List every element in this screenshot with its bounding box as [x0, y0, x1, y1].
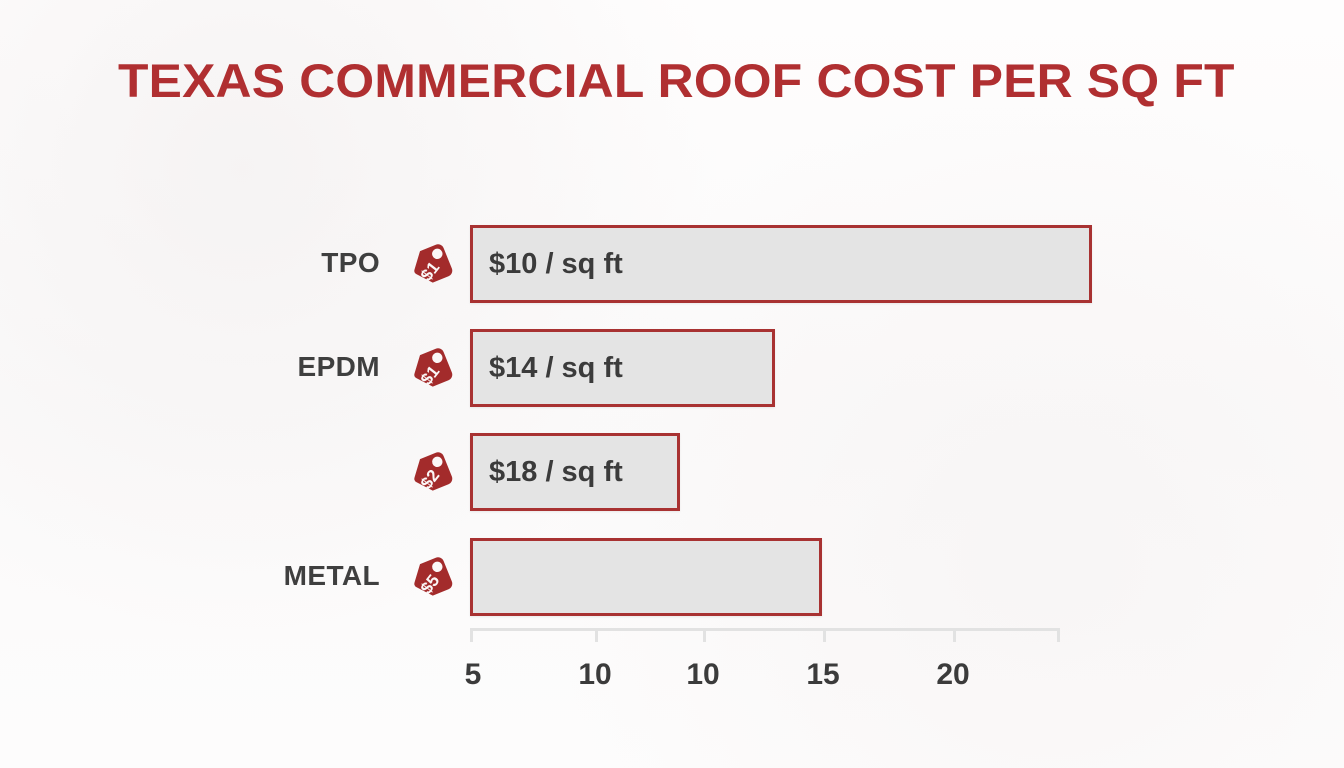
- bar: $14 / sq ft: [470, 329, 775, 407]
- x-axis-tick: [953, 628, 956, 642]
- x-axis-tick-label: 10: [555, 655, 635, 695]
- category-label: METAL: [120, 536, 380, 616]
- infographic-root: TEXAS COMMERCIAL ROOF COST PER SQ FT TPO…: [0, 0, 1344, 768]
- bar-row: $2 $18 / sq ft: [0, 431, 1344, 511]
- x-axis-tick: [703, 628, 706, 642]
- bar: $18 / sq ft: [470, 433, 680, 511]
- bar-row: TPO $1 $10 / sq ft: [0, 223, 1344, 303]
- x-axis-line: [470, 628, 1060, 631]
- price-tag-icon: $5: [404, 550, 464, 610]
- x-axis-tick: [1057, 628, 1060, 642]
- x-axis: [470, 628, 1060, 642]
- price-tag-icon: $1: [404, 237, 464, 297]
- bar-row: METAL $5: [0, 536, 1344, 616]
- price-tag-icon: $1: [404, 341, 464, 401]
- x-axis-tick: [823, 628, 826, 642]
- category-label: TPO: [120, 223, 380, 303]
- bar: [470, 538, 822, 616]
- x-axis-tick-label: 10: [663, 655, 743, 695]
- x-axis-tick-label: 20: [913, 655, 993, 695]
- x-axis-tick-label: 15: [783, 655, 863, 695]
- chart-plot-area: TPO $1 $10 / sq ft EPDM: [0, 0, 1344, 768]
- x-axis-tick-label: 5: [433, 655, 513, 695]
- category-label: EPDM: [120, 327, 380, 407]
- x-axis-tick: [470, 628, 473, 642]
- bar: $10 / sq ft: [470, 225, 1092, 303]
- bar-row: EPDM $1 $14 / sq ft: [0, 327, 1344, 407]
- bar-value-label: $14 / sq ft: [489, 332, 623, 404]
- bar-value-label: $10 / sq ft: [489, 228, 623, 300]
- x-axis-tick: [595, 628, 598, 642]
- price-tag-icon: $2: [404, 445, 464, 505]
- bar-value-label: $18 / sq ft: [489, 436, 623, 508]
- x-axis-labels: 5 10 10 15 20: [0, 655, 1344, 695]
